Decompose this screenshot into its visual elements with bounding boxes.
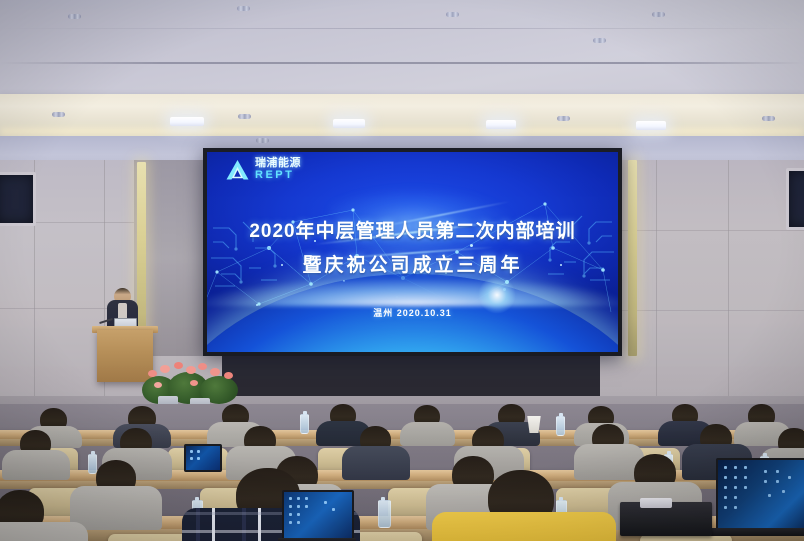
ceiling-spot-light	[652, 12, 665, 17]
screen-title-line-1: 2020年中层管理人员第二次内部培训	[207, 216, 618, 243]
logo-chinese-text: 瑞浦能源	[255, 158, 301, 169]
ceiling-spot-light	[557, 116, 570, 121]
wall-monitor-left	[0, 172, 36, 226]
led-screen-content: 瑞浦能源 REPT 2020年中层管理人员第二次内部培训 暨庆祝公司成立三周年 …	[207, 152, 618, 352]
audience-torso	[342, 446, 410, 480]
wall-monitor-right	[786, 168, 804, 230]
rept-logo: 瑞浦能源 REPT	[225, 158, 301, 181]
ceiling-seam	[0, 28, 804, 29]
ceiling-panel-light	[333, 119, 365, 128]
ceiling-spot-light	[593, 38, 606, 43]
ceiling-panel-light	[636, 121, 666, 130]
audience-torso	[400, 422, 455, 446]
audience-torso	[0, 522, 88, 541]
water-bottle	[88, 454, 97, 474]
ceiling-spot-light	[256, 138, 269, 143]
smartphone-on-box[interactable]	[640, 498, 672, 508]
ceiling-panel-light	[486, 120, 516, 129]
ceiling-spot-light	[238, 114, 251, 119]
water-bottle	[556, 416, 565, 436]
flower-arrangement	[138, 360, 250, 406]
water-bottle	[300, 414, 309, 434]
audience-torso	[2, 450, 70, 480]
ceiling-spot-light	[762, 116, 775, 121]
audience-torso	[70, 486, 162, 530]
conference-hall-photo: 瑞浦能源 REPT 2020年中层管理人员第二次内部培训 暨庆祝公司成立三周年 …	[0, 0, 804, 541]
ceiling-upper-plane	[0, 0, 804, 96]
accent-light-right	[628, 160, 637, 356]
rept-triangle-icon	[225, 159, 250, 181]
logo-english-text: REPT	[255, 170, 301, 181]
screen-subtitle: 温州 2020.10.31	[207, 306, 618, 319]
audience-area	[0, 404, 804, 541]
foreground-person-yellow-shirt	[432, 512, 616, 541]
ceiling-spot-light	[52, 112, 65, 117]
led-video-wall: 瑞浦能源 REPT 2020年中层管理人员第二次内部培训 暨庆祝公司成立三周年 …	[203, 148, 622, 356]
ceiling-spot-light	[237, 6, 250, 11]
ceiling-panel-light	[170, 117, 204, 126]
screen-title-line-2: 暨庆祝公司成立三周年	[207, 250, 618, 277]
water-bottle	[378, 500, 391, 528]
ceiling-spot-light	[68, 14, 81, 19]
ceiling-spot-light	[446, 12, 459, 17]
